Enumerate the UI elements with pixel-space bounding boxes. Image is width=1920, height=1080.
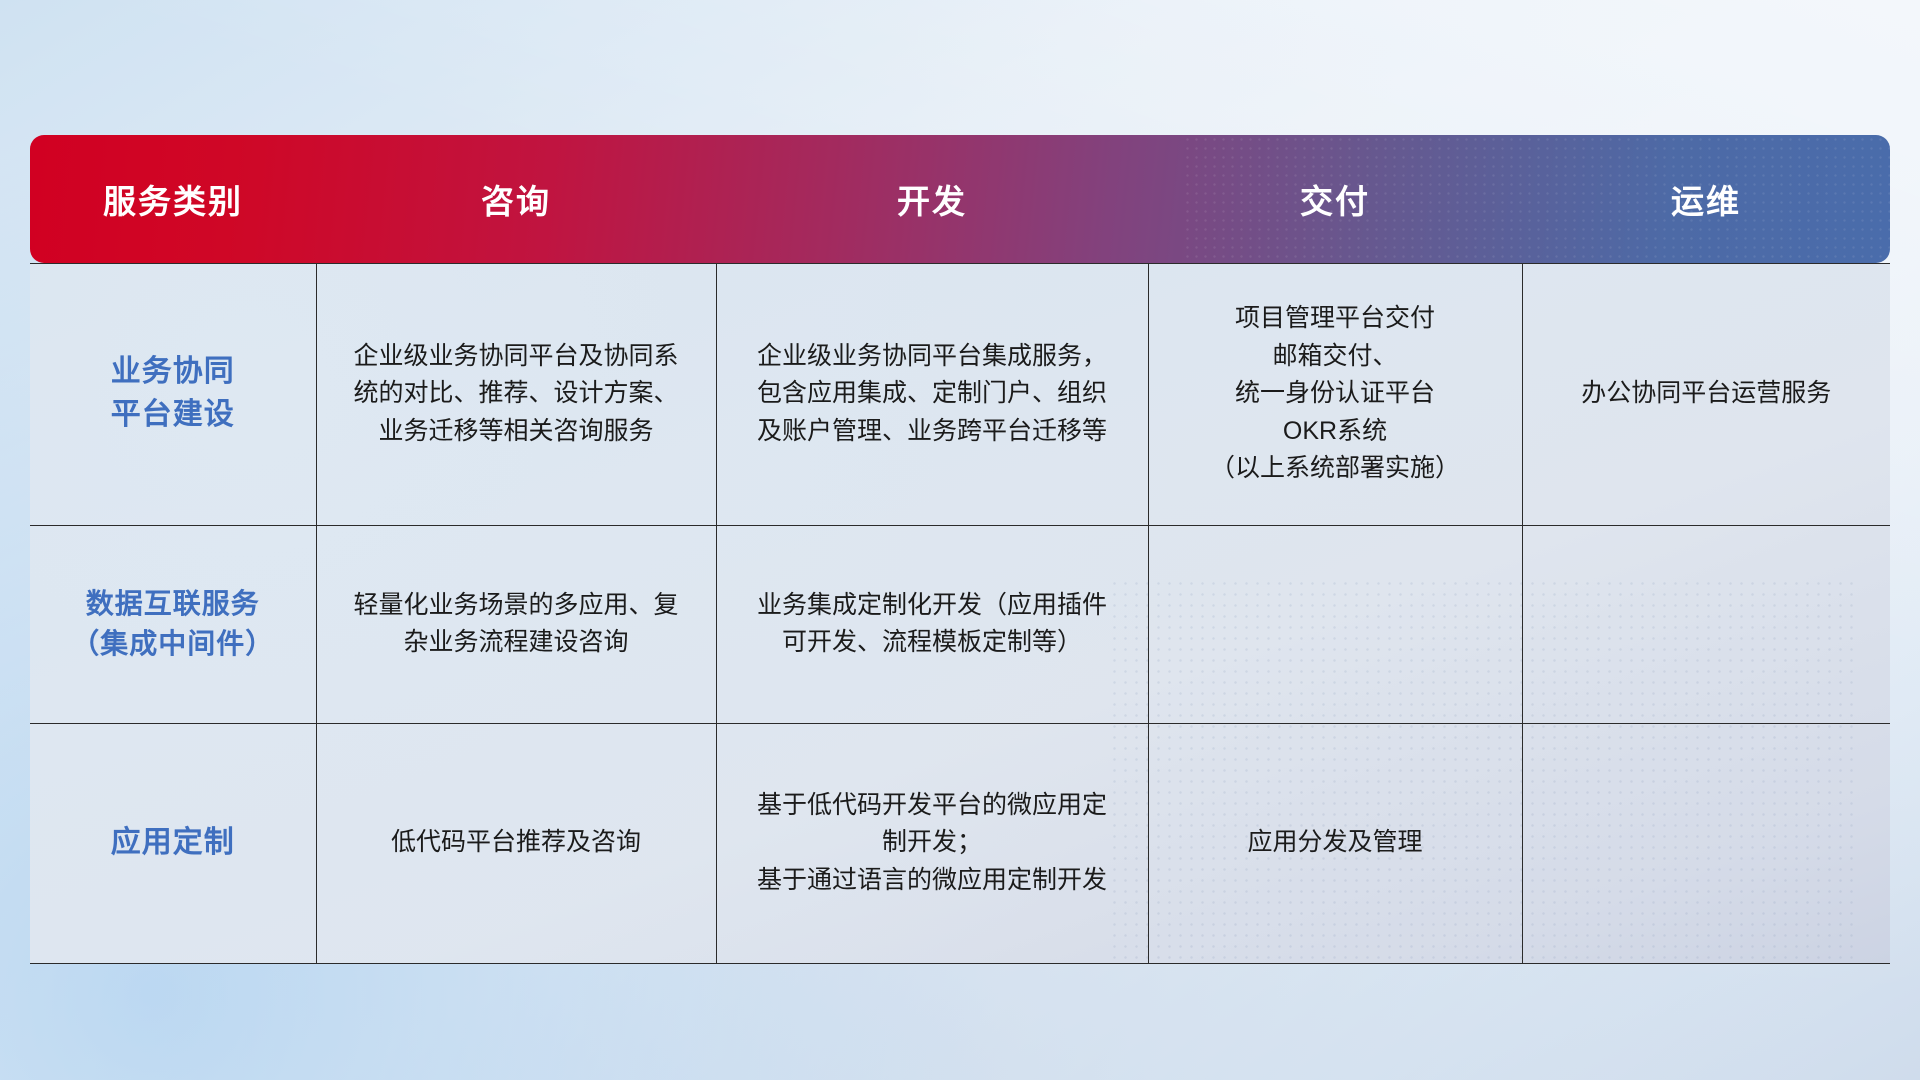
row-category-label: 应用定制 xyxy=(30,723,316,963)
table-body: 业务协同 平台建设 企业级业务协同平台及协同系 统的对比、推荐、设计方案、 业务… xyxy=(30,263,1890,963)
service-matrix-table-wrapper: 服务类别 咨询 开发 交付 运维 业务协同 平台建设 企业级业务协同平台及协同系… xyxy=(30,135,1890,955)
column-header-operations: 运维 xyxy=(1522,135,1890,263)
row-category-label: 业务协同 平台建设 xyxy=(30,263,316,525)
column-header-delivery: 交付 xyxy=(1148,135,1522,263)
table-row: 应用定制 低代码平台推荐及咨询 基于低代码开发平台的微应用定 制开发； 基于通过… xyxy=(30,723,1890,963)
column-header-consulting: 咨询 xyxy=(316,135,716,263)
cell-operations xyxy=(1522,525,1890,723)
cell-delivery: 项目管理平台交付 邮箱交付、 统一身份认证平台 OKR系统 （以上系统部署实施） xyxy=(1148,263,1522,525)
table-row: 业务协同 平台建设 企业级业务协同平台及协同系 统的对比、推荐、设计方案、 业务… xyxy=(30,263,1890,525)
cell-consulting: 低代码平台推荐及咨询 xyxy=(316,723,716,963)
cell-development: 基于低代码开发平台的微应用定 制开发； 基于通过语言的微应用定制开发 xyxy=(716,723,1148,963)
cell-operations: 办公协同平台运营服务 xyxy=(1522,263,1890,525)
cell-consulting: 轻量化业务场景的多应用、复 杂业务流程建设咨询 xyxy=(316,525,716,723)
cell-delivery xyxy=(1148,525,1522,723)
table-header-row: 服务类别 咨询 开发 交付 运维 xyxy=(30,135,1890,263)
row-category-label: 数据互联服务 （集成中间件） xyxy=(30,525,316,723)
table-row: 数据互联服务 （集成中间件） 轻量化业务场景的多应用、复 杂业务流程建设咨询 业… xyxy=(30,525,1890,723)
service-matrix-table: 服务类别 咨询 开发 交付 运维 业务协同 平台建设 企业级业务协同平台及协同系… xyxy=(30,135,1890,964)
column-header-category: 服务类别 xyxy=(30,135,316,263)
cell-development: 企业级业务协同平台集成服务， 包含应用集成、定制门户、组织 及账户管理、业务跨平… xyxy=(716,263,1148,525)
cell-development: 业务集成定制化开发（应用插件 可开发、流程模板定制等） xyxy=(716,525,1148,723)
cell-delivery: 应用分发及管理 xyxy=(1148,723,1522,963)
cell-consulting: 企业级业务协同平台及协同系 统的对比、推荐、设计方案、 业务迁移等相关咨询服务 xyxy=(316,263,716,525)
column-header-development: 开发 xyxy=(716,135,1148,263)
table-head: 服务类别 咨询 开发 交付 运维 xyxy=(30,135,1890,263)
cell-operations xyxy=(1522,723,1890,963)
